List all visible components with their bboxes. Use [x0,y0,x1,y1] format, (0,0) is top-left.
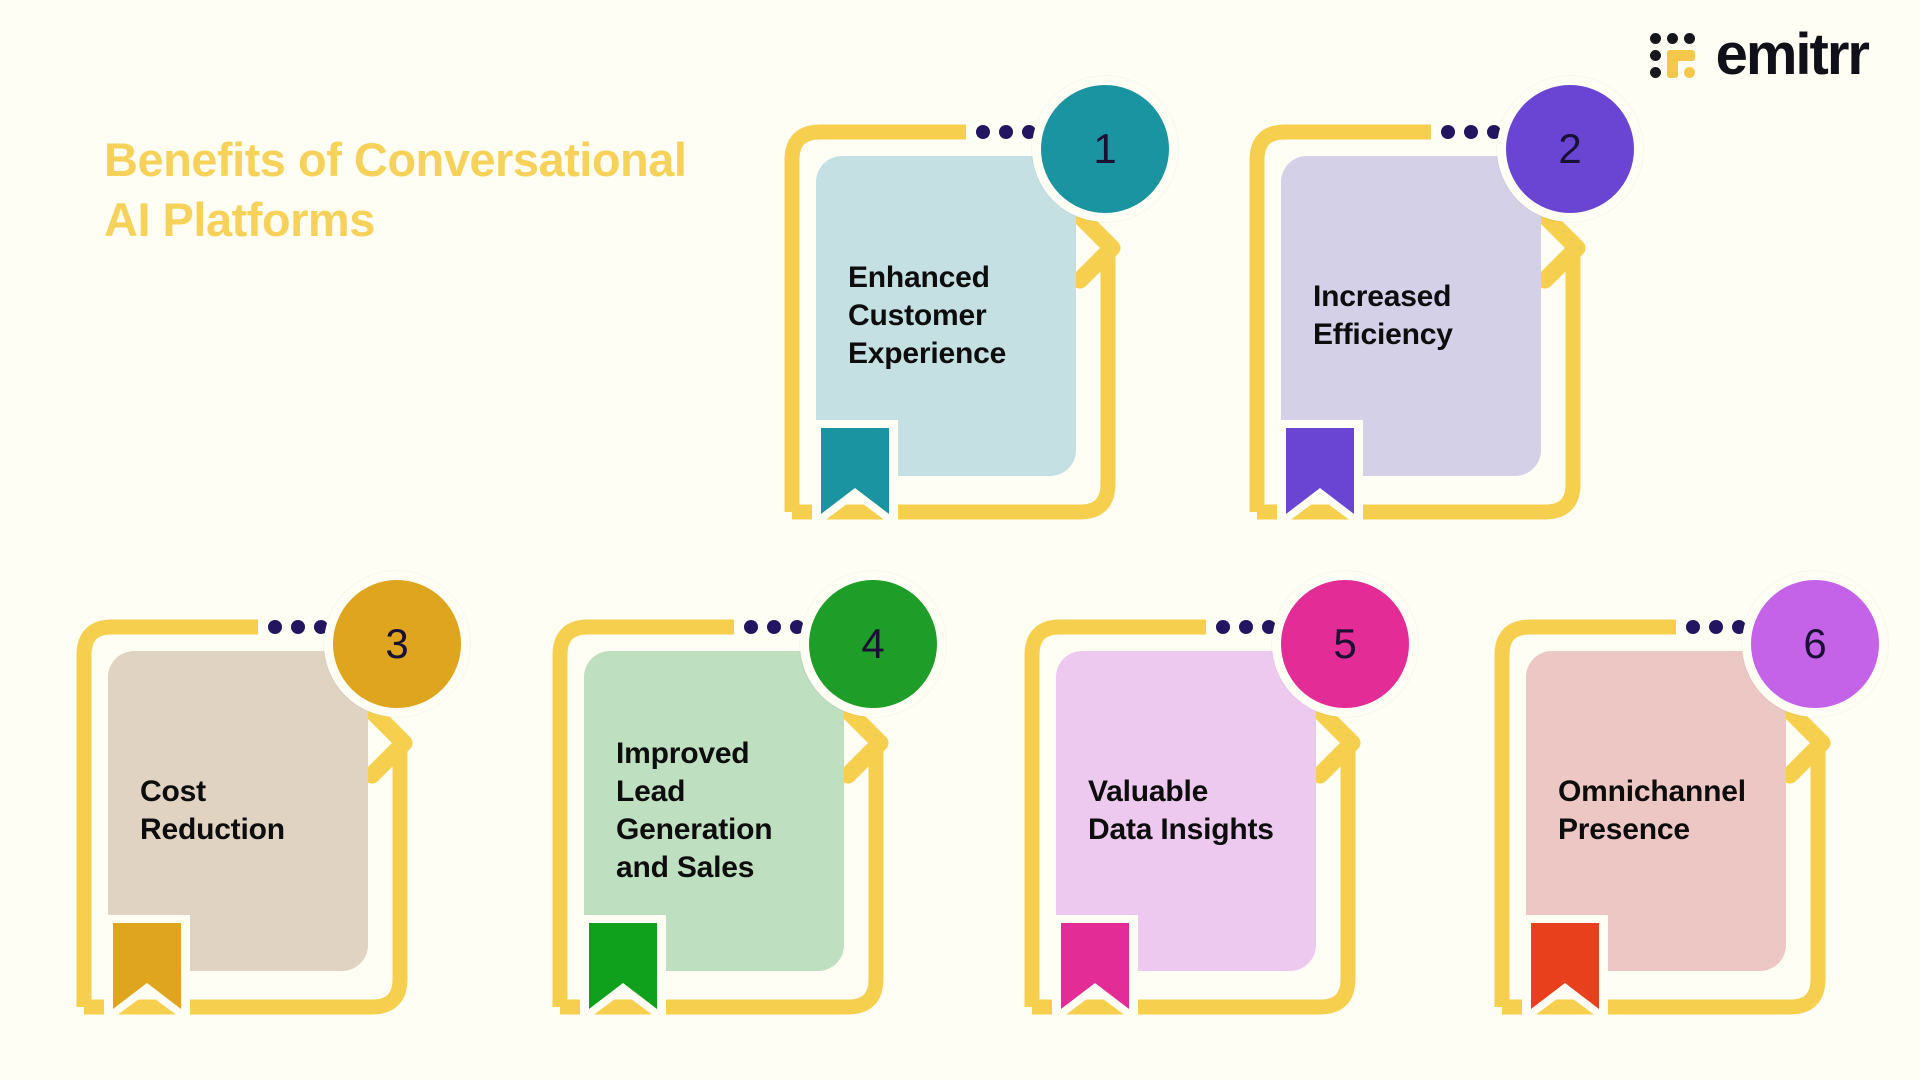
card-3-number-badge[interactable]: 3 [324,571,470,717]
card-5-label: Valuable Data Insights [1056,773,1290,849]
card-4-ribbon-icon [580,915,666,1025]
brand-logo: emitrr [1650,26,1868,84]
card-6-ribbon-icon [1522,915,1608,1025]
infographic-canvas: emitrr Benefits of Conversational AI Pla… [0,0,1920,1080]
benefit-card-3[interactable]: Cost Reduction 3 [72,595,492,1015]
emitrr-dot-mark-icon [1650,31,1700,79]
logo-wordmark: emitrr [1716,26,1868,84]
card-5-number: 5 [1333,623,1356,665]
benefit-card-5[interactable]: Valuable Data Insights 5 [1020,595,1440,1015]
card-4-number-badge[interactable]: 4 [800,571,946,717]
card-6-number: 6 [1803,623,1826,665]
card-2-ribbon-icon [1277,420,1363,530]
card-3-label: Cost Reduction [108,773,301,849]
card-5-ribbon-icon [1052,915,1138,1025]
card-4-label: Improved Lead Generation and Sales [584,735,788,887]
card-1-number-badge[interactable]: 1 [1032,76,1178,222]
card-5-number-badge[interactable]: 5 [1272,571,1418,717]
card-2-dots-icon [1441,125,1501,139]
card-6-dots-icon [1686,620,1746,634]
card-3-ribbon-icon [104,915,190,1025]
card-1-ribbon-icon [812,420,898,530]
page-title: Benefits of Conversational AI Platforms [104,130,704,249]
card-2-number-badge[interactable]: 2 [1497,76,1643,222]
card-4-dots-icon [744,620,804,634]
card-5-dots-icon [1216,620,1276,634]
card-3-dots-icon [268,620,328,634]
card-2-number: 2 [1558,128,1581,170]
benefit-card-1[interactable]: Enhanced Customer Experience 1 [780,100,1200,520]
card-3-number: 3 [385,623,408,665]
benefit-card-4[interactable]: Improved Lead Generation and Sales 4 [548,595,968,1015]
benefit-card-2[interactable]: Increased Efficiency 2 [1245,100,1665,520]
card-6-label: Omnichannel Presence [1526,773,1762,849]
card-4-number: 4 [861,623,884,665]
card-1-dots-icon [976,125,1036,139]
benefit-card-6[interactable]: Omnichannel Presence 6 [1490,595,1910,1015]
card-1-label: Enhanced Customer Experience [816,259,1022,373]
card-2-label: Increased Efficiency [1281,278,1469,354]
card-1-number: 1 [1093,128,1116,170]
card-6-number-badge[interactable]: 6 [1742,571,1888,717]
